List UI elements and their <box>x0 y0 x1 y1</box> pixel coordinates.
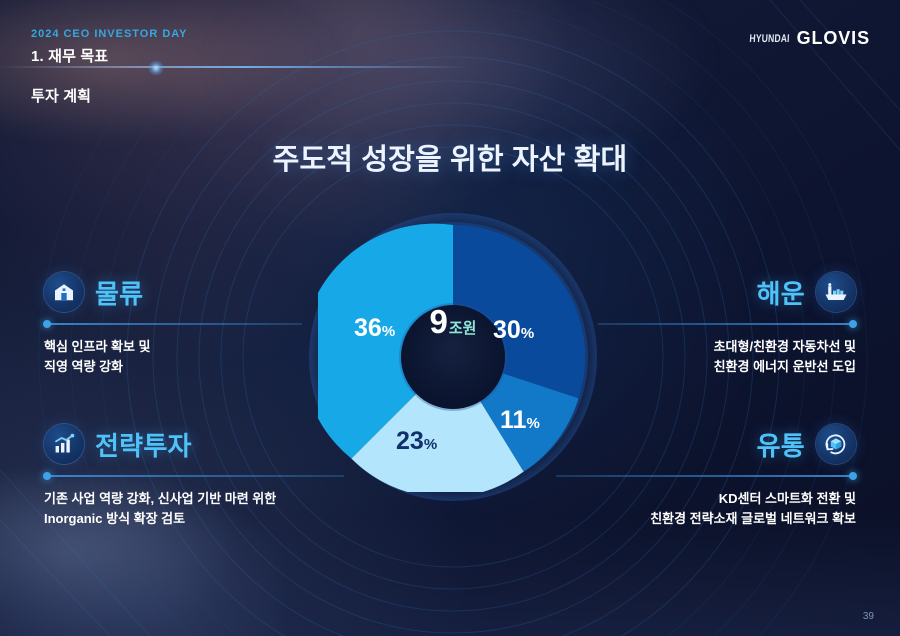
category-logistics-desc-line2: 직영 역량 강화 <box>44 357 302 377</box>
investment-donut-chart: 9 조원 30% 11% 23% 36% <box>318 222 588 492</box>
category-shipping-desc-line2: 친환경 에너지 운반선 도입 <box>598 357 856 377</box>
center-total-value: 9 <box>430 305 448 338</box>
category-distribution-description: KD센터 스마트화 전환 및 친환경 전략소재 글로벌 네트워크 확보 <box>556 489 856 529</box>
category-distribution: 유통 KD센터 스마트화 전환 및 친환경 전략소재 글로벌 네트워크 확보 <box>556 424 856 529</box>
category-distribution-divider <box>556 475 856 477</box>
background-glow-left <box>0 0 360 150</box>
category-strategic-desc-line1: 기존 사업 역량 강화, 신사업 기반 마련 위한 <box>44 489 344 509</box>
warehouse-icon <box>44 272 84 312</box>
slice-label-strategic: 23% <box>396 429 437 454</box>
brand-logo: HYUNDAI GLOVIS <box>738 28 870 49</box>
category-strategic-title: 전략투자 <box>95 426 192 463</box>
slide: 2024 CEO INVESTOR DAY 1. 재무 목표 투자 계획 HYU… <box>0 0 900 636</box>
bar-chart-growth-icon <box>44 424 84 464</box>
category-shipping-desc-line1: 초대형/친환경 자동차선 및 <box>598 337 856 357</box>
category-strategic-divider <box>44 475 344 477</box>
cube-refresh-icon <box>816 424 856 464</box>
category-shipping-divider <box>598 323 856 325</box>
category-shipping: 해운 초대형/친환경 자동차선 및 친환경 에너지 운반선 도입 <box>598 272 856 377</box>
page-number: 39 <box>863 611 874 622</box>
subsection-title: 투자 계획 <box>31 85 91 106</box>
background-glow-top <box>200 0 720 150</box>
category-shipping-title: 해운 <box>757 274 805 311</box>
slice-label-shipping: 30% <box>493 318 534 343</box>
category-logistics: 물류 핵심 인프라 확보 및 직영 역량 강화 <box>44 272 302 377</box>
section-title: 1. 재무 목표 <box>31 45 108 66</box>
center-total-unit: 조원 <box>449 321 477 336</box>
category-logistics-description: 핵심 인프라 확보 및 직영 역량 강화 <box>44 337 302 377</box>
category-distribution-title: 유통 <box>757 426 805 463</box>
header-light-streak <box>0 66 470 68</box>
category-logistics-divider <box>44 323 302 325</box>
category-strategic-investment: 전략투자 기존 사업 역량 강화, 신사업 기반 마련 위한 Inorganic… <box>44 424 344 529</box>
page-title: 주도적 성장을 위한 자산 확대 <box>0 136 900 178</box>
cargo-ship-icon <box>816 272 856 312</box>
category-strategic-description: 기존 사업 역량 강화, 신사업 기반 마련 위한 Inorganic 방식 확… <box>44 489 344 529</box>
category-logistics-title: 물류 <box>95 274 143 311</box>
header-light-dot <box>148 60 164 76</box>
slice-label-distribution: 11% <box>500 408 540 433</box>
slice-label-logistics: 36% <box>354 316 395 341</box>
category-shipping-description: 초대형/친환경 자동차선 및 친환경 에너지 운반선 도입 <box>598 337 856 377</box>
category-distribution-header: 유통 <box>556 424 856 464</box>
category-strategic-desc-line2: Inorganic 방식 확장 검토 <box>44 509 344 529</box>
category-logistics-header: 물류 <box>44 272 302 312</box>
category-distribution-desc-line1: KD센터 스마트화 전환 및 <box>556 489 856 509</box>
category-shipping-header: 해운 <box>598 272 856 312</box>
donut-center-total: 9 조원 <box>401 305 505 409</box>
category-distribution-desc-line2: 친환경 전략소재 글로벌 네트워크 확보 <box>556 509 856 529</box>
logo-hyundai-text: HYUNDAI <box>749 33 790 45</box>
event-eyebrow: 2024 CEO INVESTOR DAY <box>31 28 188 40</box>
background-bottom-sheen <box>0 516 900 636</box>
logo-glovis-text: GLOVIS <box>797 28 870 49</box>
category-logistics-desc-line1: 핵심 인프라 확보 및 <box>44 337 302 357</box>
category-strategic-header: 전략투자 <box>44 424 344 464</box>
